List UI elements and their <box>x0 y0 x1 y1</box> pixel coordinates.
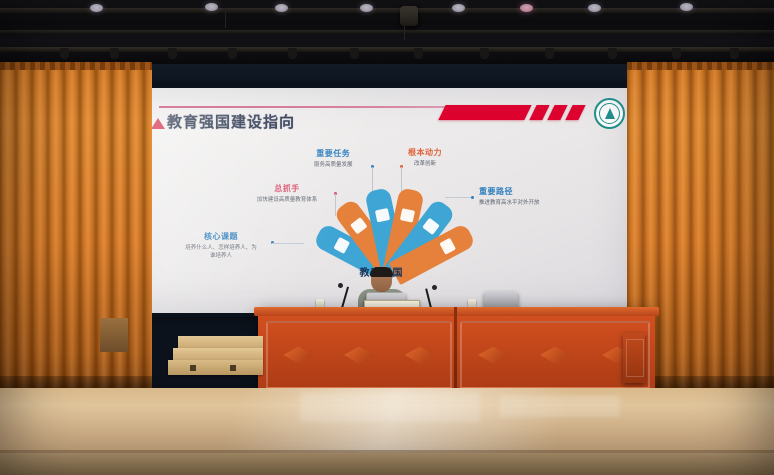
stage-light-icon <box>90 4 103 12</box>
callout-core-topic: 核心课题 培养什么人、怎样培养人、为谁培养人 <box>179 231 263 261</box>
par-can-icon <box>228 48 237 59</box>
step-notch <box>230 365 236 371</box>
diamond-ornament <box>405 347 435 364</box>
diamond-ornament <box>478 347 508 364</box>
callout-dot <box>471 196 474 199</box>
cabinet-panel <box>626 339 644 377</box>
par-can-icon <box>545 48 554 59</box>
step-notch <box>190 365 196 371</box>
conference-table <box>258 307 655 399</box>
cable <box>225 12 226 28</box>
grid-chart-icon <box>399 208 414 222</box>
truss-bar-middle <box>0 30 774 34</box>
auditorium-stage-photo: 教育强国建设指向 重要任务 服务高质量发展 根本动力 改革创新 总抓手 加快 <box>0 0 774 475</box>
moving-head-spotlight-icon <box>400 6 418 26</box>
cloud-icon <box>421 217 439 234</box>
par-can-icon <box>608 48 617 59</box>
par-can-icon <box>60 48 69 59</box>
par-can-icon <box>414 48 423 59</box>
person-badge-icon <box>374 208 389 222</box>
par-can-icon <box>730 48 739 59</box>
building-icon <box>439 237 456 254</box>
slide-title: 教育强国建设指向 <box>167 111 295 132</box>
stage-steps <box>168 336 263 384</box>
par-can-icon <box>168 48 177 59</box>
par-can-icon <box>480 48 489 59</box>
floor-reflection <box>500 395 620 417</box>
diamond-ornament <box>283 347 313 364</box>
curtain-rail <box>627 62 774 70</box>
cable <box>404 26 405 40</box>
monitor-icon <box>349 217 367 234</box>
table-seam <box>454 307 457 399</box>
microphone-head-icon <box>338 283 343 288</box>
triangle-bullet-icon <box>151 118 165 129</box>
step-bottom <box>168 360 263 375</box>
curtain-rail <box>0 62 152 70</box>
callout-important-path: 重要路径 推进教育高水平对外开放 <box>479 186 540 207</box>
stage-light-icon <box>452 4 465 12</box>
presenter-hair <box>370 267 393 277</box>
diamond-ornament <box>344 347 374 364</box>
stripe-small-2 <box>547 105 567 120</box>
floor-reflection <box>300 392 480 422</box>
stage-light-icon <box>275 4 288 12</box>
truss-bar-front <box>0 8 774 13</box>
stripe-large <box>438 105 531 120</box>
stage-light-icon <box>680 3 693 11</box>
stripe-small-1 <box>529 105 549 120</box>
stage-light-icon <box>520 4 533 12</box>
school-emblem-icon <box>594 98 625 129</box>
table-panel-left <box>266 321 452 389</box>
par-can-icon <box>350 48 359 59</box>
stage-light-icon <box>360 4 373 12</box>
slide-stripe-decoration <box>442 104 582 120</box>
emblem-inner-ring <box>599 103 620 124</box>
fan-diagram: 教育强国 <box>294 184 469 274</box>
stage-light-icon <box>588 4 601 12</box>
emblem-tree-icon <box>605 108 615 119</box>
diamond-ornament <box>540 347 570 364</box>
side-cabinet <box>623 333 645 383</box>
stripe-small-3 <box>565 105 585 120</box>
stage-apron <box>0 453 774 475</box>
microphone-head-icon <box>432 285 437 290</box>
wooden-box <box>100 318 128 352</box>
par-can-icon <box>672 48 681 59</box>
people-icon <box>333 237 350 254</box>
callout-important-task: 重要任务 服务高质量发展 <box>314 148 353 169</box>
table-panel-right <box>460 321 650 389</box>
callout-fundamental-driver: 根本动力 改革创新 <box>408 147 442 168</box>
stage-light-icon <box>205 3 218 11</box>
slide-header-rule <box>159 106 479 108</box>
ceiling-lighting-rig <box>0 0 774 68</box>
par-can-icon <box>110 48 119 59</box>
par-can-icon <box>288 48 297 59</box>
stage-curtain-left <box>0 62 152 392</box>
